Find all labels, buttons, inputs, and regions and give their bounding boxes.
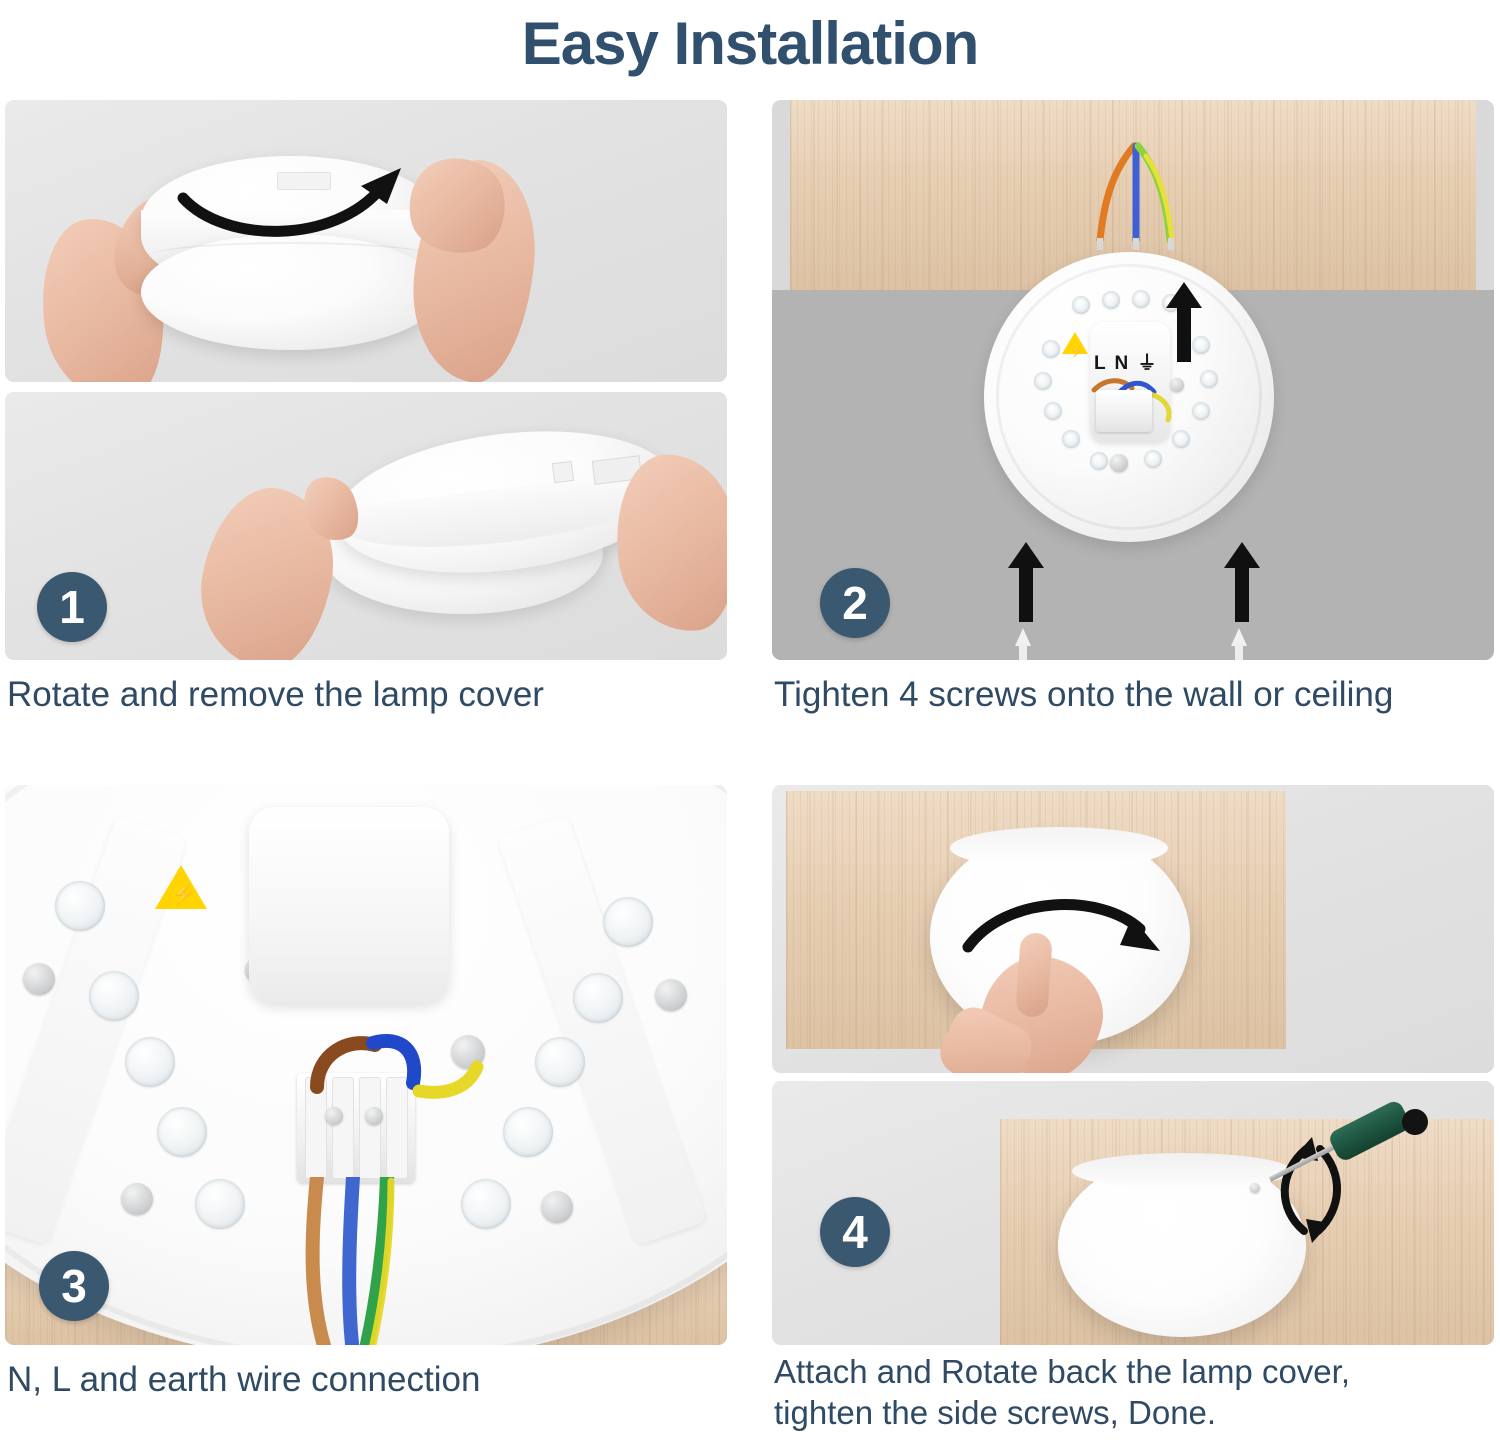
step-4: 4 Attach and Rotate back the lamp cover,… (772, 785, 1494, 1345)
step-3: ⚡ (5, 785, 727, 1345)
led-lens (195, 1179, 245, 1229)
led-lens (1034, 372, 1052, 390)
led-lens (1090, 452, 1108, 470)
steps-grid: 1 Rotate and remove the lamp cover (0, 100, 1500, 1449)
led-lens (89, 971, 139, 1021)
up-arrow-icon (1006, 542, 1046, 624)
led-lens (1102, 291, 1120, 309)
led-lens (55, 881, 105, 931)
supply-wires (291, 1177, 451, 1345)
led-lens (1144, 450, 1162, 468)
led-lens (603, 897, 653, 947)
led-lens (573, 973, 623, 1023)
fixture-screw (541, 1191, 573, 1223)
page-title: Easy Installation (0, 2, 1500, 86)
step-number-badge-4: 4 (820, 1197, 890, 1267)
step-3-caption: N, L and earth wire connection (7, 1357, 727, 1402)
fixture-screw (655, 979, 687, 1011)
step-number-badge-1: 1 (37, 572, 107, 642)
warning-bolt-glyph: ⚡ (1070, 344, 1084, 360)
step-1-photo-top (5, 100, 727, 382)
step-2-photo: ⚡ L N ⏚ (772, 100, 1494, 660)
warning-bolt-glyph: ⚡ (171, 887, 196, 903)
wall-screw-icon (1012, 628, 1034, 660)
rotate-arrow-icon (165, 152, 425, 262)
lamp-cover-top-edge (950, 827, 1168, 869)
step-2-caption: Tighten 4 screws onto the wall or ceilin… (774, 672, 1494, 717)
led-lens (125, 1037, 175, 1087)
step-4-caption: Attach and Rotate back the lamp cover, t… (774, 1351, 1494, 1433)
fixture-side-wires (291, 1021, 511, 1131)
easy-installation-infographic: Easy Installation (0, 0, 1500, 1449)
step-3-photo: ⚡ (5, 785, 727, 1345)
earth-screw (1170, 378, 1184, 392)
mains-wires (1072, 142, 1212, 252)
led-lens (1042, 340, 1060, 358)
cover-qr-label (552, 461, 574, 483)
fixture-screw (121, 1183, 153, 1215)
led-lens (1062, 430, 1080, 448)
led-lens (1044, 402, 1062, 420)
index-finger (1015, 932, 1053, 1018)
step-1-caption: Rotate and remove the lamp cover (7, 672, 727, 717)
step-number-badge-3: 3 (39, 1251, 109, 1321)
step-number-badge-2: 2 (820, 568, 890, 638)
step-2: ⚡ L N ⏚ (772, 100, 1494, 660)
fixture-screw (23, 963, 55, 995)
terminal-label: L N ⏚ (1094, 348, 1159, 375)
led-lens (157, 1107, 207, 1157)
step-4-photo-top (772, 785, 1494, 1073)
led-lens (1072, 296, 1090, 314)
step-1: 1 Rotate and remove the lamp cover (5, 100, 727, 660)
terminal-block (1096, 390, 1152, 432)
side-screw (1250, 1183, 1260, 1193)
lamp-rim (1072, 1153, 1292, 1189)
wall-screw-icon (1228, 628, 1250, 660)
driver-housing (249, 807, 449, 1003)
led-lens (461, 1179, 511, 1229)
up-arrow-icon (1164, 282, 1204, 364)
led-lens (1132, 290, 1150, 308)
step-1-photo-bottom: 1 (5, 392, 727, 660)
led-lens (535, 1037, 585, 1087)
step-4-photo-bottom: 4 (772, 1081, 1494, 1345)
rotate-arrow-icon (954, 889, 1184, 975)
up-arrow-icon (1222, 542, 1262, 624)
mounting-screw (1110, 454, 1128, 472)
